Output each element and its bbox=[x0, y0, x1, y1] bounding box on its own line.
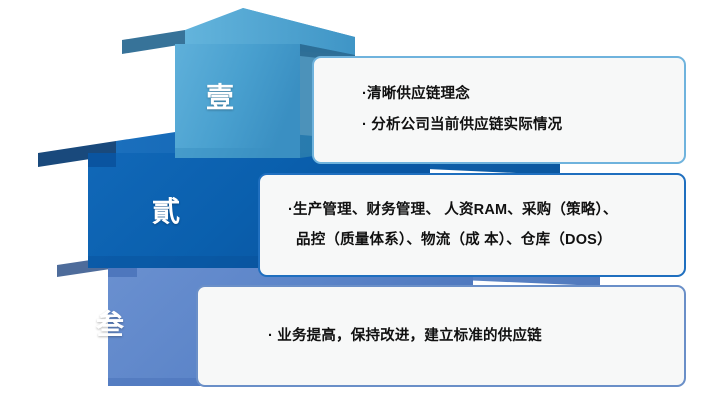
step-1-line-2: · 分析公司当前供应链实际情况 bbox=[336, 110, 662, 141]
step-2-line-2: 品控（质量体系）、物流（成 本）、仓库（DOS） bbox=[278, 225, 666, 255]
step-1-line-1: ·清晰供应链理念 bbox=[336, 79, 662, 110]
step-card-2[interactable]: ·生产管理、财务管理、 人资RAM、采购（策略）、 品控（质量体系）、物流（成 … bbox=[258, 173, 686, 277]
step-2-line-1: ·生产管理、财务管理、 人资RAM、采购（策略）、 bbox=[278, 195, 666, 225]
step-card-1[interactable]: ·清晰供应链理念 · 分析公司当前供应链实际情况 bbox=[312, 56, 686, 164]
arrow-2-wing-edge bbox=[88, 153, 116, 167]
slide-canvas: 壹 貳 叁 ·清晰供应链理念 · 分析公司当前供应链实际情况 ·生产管理、财务管… bbox=[0, 0, 720, 416]
arrow-1-bottom-shade bbox=[175, 148, 300, 158]
step-number-1: 壹 bbox=[206, 76, 235, 116]
step-card-3[interactable]: · 业务提高，保持改进，建立标准的供应链 bbox=[196, 285, 686, 387]
step-number-2: 貳 bbox=[152, 190, 181, 230]
arrow-1-body bbox=[175, 44, 300, 158]
step-number-3: 叁 bbox=[96, 303, 125, 343]
step-3-line-1: · 业务提高，保持改进，建立标准的供应链 bbox=[220, 321, 662, 351]
